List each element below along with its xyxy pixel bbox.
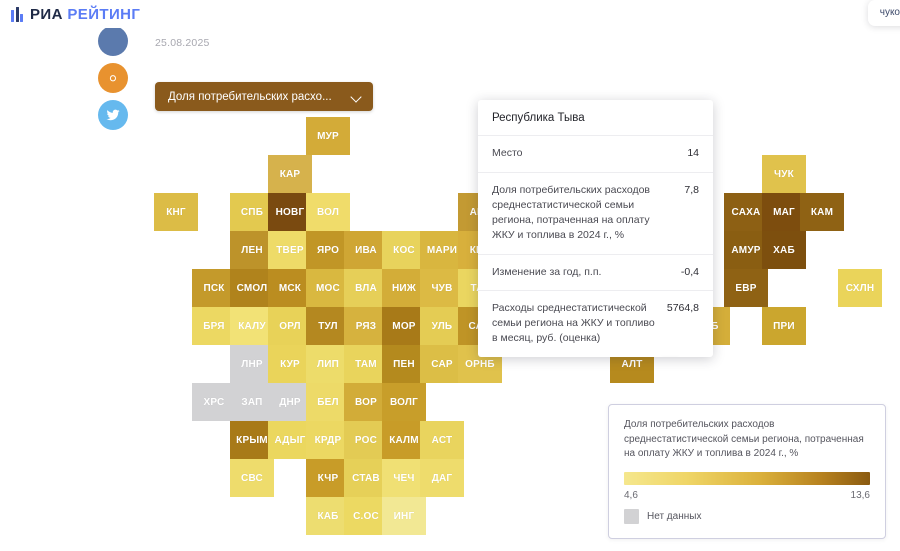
map-tile-label: ТВЕР <box>276 245 303 256</box>
map-tile-label: КАМ <box>811 207 833 218</box>
map-tile-label: БРЯ <box>203 321 224 332</box>
map-tile-чук[interactable]: ЧУК <box>762 155 806 193</box>
map-tile-label: МОР <box>392 321 415 332</box>
map-tile-label: НОВГ <box>276 207 305 218</box>
region-tooltip-row-value: 7,8 <box>684 183 699 198</box>
logo-text-primary: РИА <box>30 6 63 23</box>
map-tile-label: МАРИ <box>427 245 457 256</box>
map-tile-label: РЯЗ <box>356 321 376 332</box>
map-tile-label: МСК <box>279 283 301 294</box>
share-twitter-icon[interactable] <box>98 100 128 130</box>
map-tile-label: МОС <box>316 283 340 294</box>
region-tooltip-rows: Место14Доля потребительских расходов сре… <box>478 136 713 357</box>
map-tile-label: ВЛА <box>355 283 377 294</box>
map-tile-label: ДАГ <box>432 473 453 484</box>
map-tile-label: САР <box>431 359 452 370</box>
map-tile-label: СМОЛ <box>237 283 268 294</box>
map-tile-label: КАЛМ <box>389 435 419 446</box>
map-tile-label: ХРС <box>204 397 225 408</box>
corner-region-chip-label: чуко <box>880 7 900 18</box>
map-tile-label: АДЫГ <box>275 435 306 446</box>
map-tile-label: КОС <box>393 245 415 256</box>
map-tile-label: ДНР <box>279 397 301 408</box>
map-legend-max: 13,6 <box>851 490 870 501</box>
region-tooltip-row: Расходы среднестатистической семьи регио… <box>478 291 713 357</box>
map-tile-label: КАБ <box>317 511 338 522</box>
map-tile-label: ТАМ <box>355 359 377 370</box>
map-tile-label: ЧУК <box>774 169 794 180</box>
map-tile-схлн[interactable]: СХЛН <box>838 269 882 307</box>
map-tile-даг[interactable]: ДАГ <box>420 459 464 497</box>
share-vk-icon[interactable] <box>98 26 128 56</box>
region-tooltip-row-label: Место <box>492 146 677 161</box>
share-ok-icon[interactable]: ⚪ <box>98 63 128 93</box>
map-tile-label: КНГ <box>166 207 186 218</box>
map-tile-label: АЛТ <box>621 359 642 370</box>
map-tile-label: АСТ <box>432 435 453 446</box>
map-tile-кам[interactable]: КАМ <box>800 193 844 231</box>
map-tile-кар[interactable]: КАР <box>268 155 312 193</box>
map-tile-label: ЯРО <box>317 245 339 256</box>
map-tile-label: КЧР <box>318 473 339 484</box>
map-tile-label: ОРЛ <box>279 321 300 332</box>
region-tooltip-row: Место14 <box>478 136 713 173</box>
site-logo[interactable]: РИА РЕЙТИНГ <box>11 6 140 23</box>
map-tile-label: ВОЛГ <box>390 397 418 408</box>
map-tile-евр[interactable]: ЕВР <box>724 269 768 307</box>
map-tile-label: ЛЕН <box>241 245 263 256</box>
map-tile-label: С.ОС <box>353 511 379 522</box>
map-tile-label: РОС <box>355 435 377 446</box>
map-tile-хаб[interactable]: ХАБ <box>762 231 806 269</box>
map-tile-label: ОРНБ <box>465 359 495 370</box>
region-tooltip-row-value: 5764,8 <box>667 301 699 316</box>
map-tile-label: ТУЛ <box>318 321 338 332</box>
bars-logo-icon <box>11 7 23 22</box>
map-legend-gradient-bar <box>624 472 870 485</box>
map-legend-min: 4,6 <box>624 490 638 501</box>
logo-text-secondary: РЕЙТИНГ <box>67 6 140 23</box>
region-tooltip-row-label: Изменение за год, п.п. <box>492 265 671 280</box>
map-tile-label: МАГ <box>773 207 795 218</box>
nodata-swatch-icon <box>624 509 639 524</box>
map-tile-label: КАР <box>280 169 301 180</box>
map-tile-label: КРДР <box>315 435 342 446</box>
map-tile-label: ЗАП <box>241 397 262 408</box>
map-tile-кнг[interactable]: КНГ <box>154 193 198 231</box>
map-tile-label: КАЛУ <box>238 321 266 332</box>
map-tile-label: МУР <box>317 131 339 142</box>
corner-region-chip: чуко <box>868 0 900 26</box>
region-tooltip-row: Изменение за год, п.п.-0,4 <box>478 255 713 292</box>
map-legend-nodata-label: Нет данных <box>647 511 701 522</box>
map-tile-label: САХА <box>732 207 761 218</box>
map-tile-label: ЛИП <box>317 359 339 370</box>
map-tile-label: СХЛН <box>846 283 875 294</box>
site-header: РИА РЕЙТИНГ <box>0 0 900 28</box>
map-tile-при[interactable]: ПРИ <box>762 307 806 345</box>
map-tile-вол[interactable]: ВОЛ <box>306 193 350 231</box>
map-tile-label: ЕВР <box>735 283 756 294</box>
map-tile-label: АМУР <box>731 245 760 256</box>
map-tile-аст[interactable]: АСТ <box>420 421 464 459</box>
map-tile-label: ВОЛ <box>317 207 339 218</box>
map-tile-label: ИНГ <box>394 511 415 522</box>
map-tile-инг[interactable]: ИНГ <box>382 497 426 535</box>
map-tile-label: УЛЬ <box>432 321 453 332</box>
map-tile-label: ХАБ <box>773 245 795 256</box>
map-tile-label: ВОР <box>355 397 377 408</box>
map-legend: Доля потребительских расходов среднестат… <box>608 404 886 539</box>
region-tooltip-row-label: Доля потребительских расходов среднестат… <box>492 183 674 243</box>
map-tile-label: КРЫМ <box>236 435 268 446</box>
map-tile-label: БЕЛ <box>317 397 338 408</box>
map-tile-label: НИЖ <box>392 283 416 294</box>
social-share-rail: ⚪ <box>98 26 128 137</box>
region-tooltip: Республика Тыва Место14Доля потребительс… <box>478 100 713 357</box>
map-tile-мур[interactable]: МУР <box>306 117 350 155</box>
chevron-down-icon <box>351 91 362 102</box>
map-tile-label: ИВА <box>355 245 377 256</box>
region-tooltip-title: Республика Тыва <box>478 100 713 136</box>
indicator-select[interactable]: Доля потребительских расхо... <box>155 82 373 111</box>
region-tooltip-row-value: 14 <box>687 146 699 161</box>
map-legend-scale: 4,6 13,6 <box>624 490 870 501</box>
map-tile-label: КУР <box>280 359 300 370</box>
map-tile-label: СПБ <box>241 207 263 218</box>
logo-text: РИА РЕЙТИНГ <box>30 6 140 23</box>
map-tile-label: ПРИ <box>773 321 795 332</box>
map-tile-свс[interactable]: СВС <box>230 459 274 497</box>
map-tile-label: СТАВ <box>352 473 380 484</box>
map-tile-волг[interactable]: ВОЛГ <box>382 383 426 421</box>
map-tile-label: ПЕН <box>393 359 415 370</box>
map-tile-label: СВС <box>241 473 263 484</box>
map-tile-label: ЧЕЧ <box>393 473 414 484</box>
map-tile-label: ЧУВ <box>431 283 452 294</box>
region-tooltip-row-label: Расходы среднестатистической семьи регио… <box>492 301 657 346</box>
region-tooltip-row-value: -0,4 <box>681 265 699 280</box>
map-tile-label: ЛНР <box>241 359 263 370</box>
map-tile-label: ПСК <box>203 283 224 294</box>
map-legend-nodata: Нет данных <box>624 509 870 524</box>
map-legend-title: Доля потребительских расходов среднестат… <box>624 418 870 462</box>
region-tooltip-row: Доля потребительских расходов среднестат… <box>478 173 713 255</box>
indicator-select-label: Доля потребительских расхо... <box>168 91 332 103</box>
